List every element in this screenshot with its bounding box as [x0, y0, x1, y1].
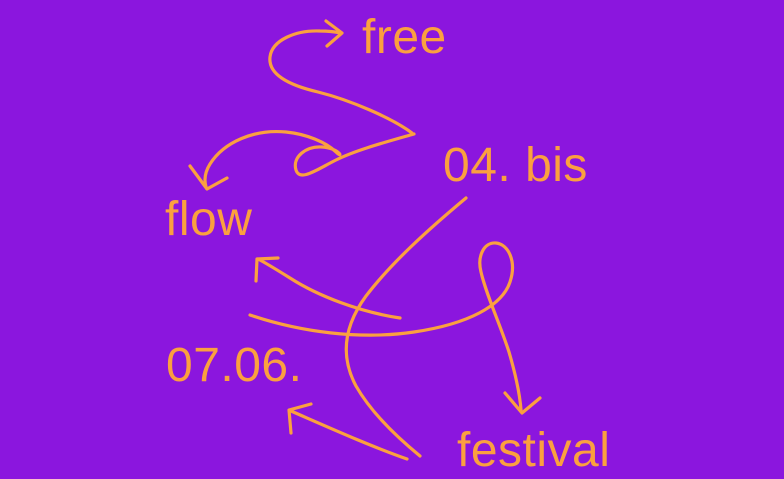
- word-free: free: [362, 14, 447, 62]
- arrow-illustration-layer: [0, 0, 784, 479]
- arrow-to-date-lower-icon: [289, 404, 407, 459]
- poster-canvas: free 04. bis flow 07.06. festival: [0, 0, 784, 479]
- word-date-end: 07.06.: [166, 342, 302, 390]
- arrow-to-festival-icon: [250, 198, 540, 456]
- arrow-to-date-upper-icon: [256, 258, 400, 318]
- word-date-range-start: 04. bis: [443, 142, 588, 190]
- arrow-to-flow-icon: [190, 132, 414, 189]
- word-flow: flow: [165, 196, 252, 244]
- word-festival: festival: [457, 427, 610, 475]
